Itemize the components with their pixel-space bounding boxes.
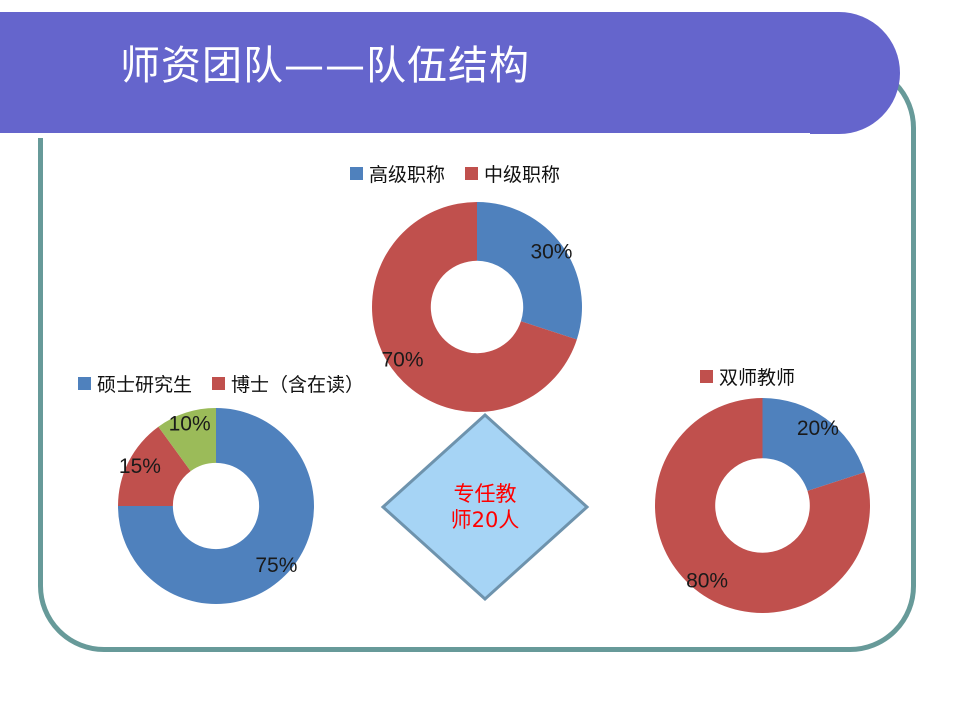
legend-swatch-blue [350,167,363,180]
legend-item-mid-rank[interactable]: 中级职称 [465,160,560,187]
legend-title-rank: 高级职称 中级职称 [350,160,560,187]
legend-item-doctor[interactable]: 博士（含在读） [212,370,364,397]
legend-item-master[interactable]: 硕士研究生 [78,370,192,397]
legend-swatch-blue [78,377,91,390]
chart-title-rank-donut[interactable]: 30%70% [372,202,582,412]
donut-slice[interactable] [763,398,865,491]
legend-item-dual-teacher[interactable]: 双师教师 [700,363,795,390]
diamond-shape [380,412,590,602]
legend-swatch-red [700,370,713,383]
legend-label-doctor: 博士（含在读） [231,370,364,397]
legend-label-mid-rank: 中级职称 [484,160,560,187]
legend-label-dual-teacher: 双师教师 [719,363,795,390]
legend-swatch-red [465,167,478,180]
legend-label-master: 硕士研究生 [97,370,192,397]
presentation-slide: 师资团队——队伍结构 高级职称 中级职称 硕士研究生 博士（含在读） 双师教师 … [0,0,960,720]
center-diamond-callout[interactable]: 专任教 师20人 [380,412,590,602]
chart-degree-donut[interactable]: 75%15%10% [118,408,314,604]
title-underline-rule [0,133,810,138]
page-title: 师资团队——队伍结构 [120,42,820,90]
donut-slice-label: 70% [382,349,424,372]
donut-slice[interactable] [477,202,582,339]
legend-dual-teacher: 双师教师 [700,363,795,390]
legend-degree: 硕士研究生 博士（含在读） [78,370,364,397]
legend-item-senior-rank[interactable]: 高级职称 [350,160,445,187]
donut-slice-label: 30% [530,240,572,263]
donut-slice-label: 15% [119,455,161,478]
donut-slice-label: 20% [797,417,839,440]
legend-label-senior-rank: 高级职称 [369,160,445,187]
chart-dual-teacher-donut[interactable]: 20%80% [655,398,870,613]
donut-slice-label: 80% [686,569,728,592]
donut-slice-label: 10% [169,412,211,435]
donut-slice-label: 75% [255,554,297,577]
legend-swatch-red [212,377,225,390]
